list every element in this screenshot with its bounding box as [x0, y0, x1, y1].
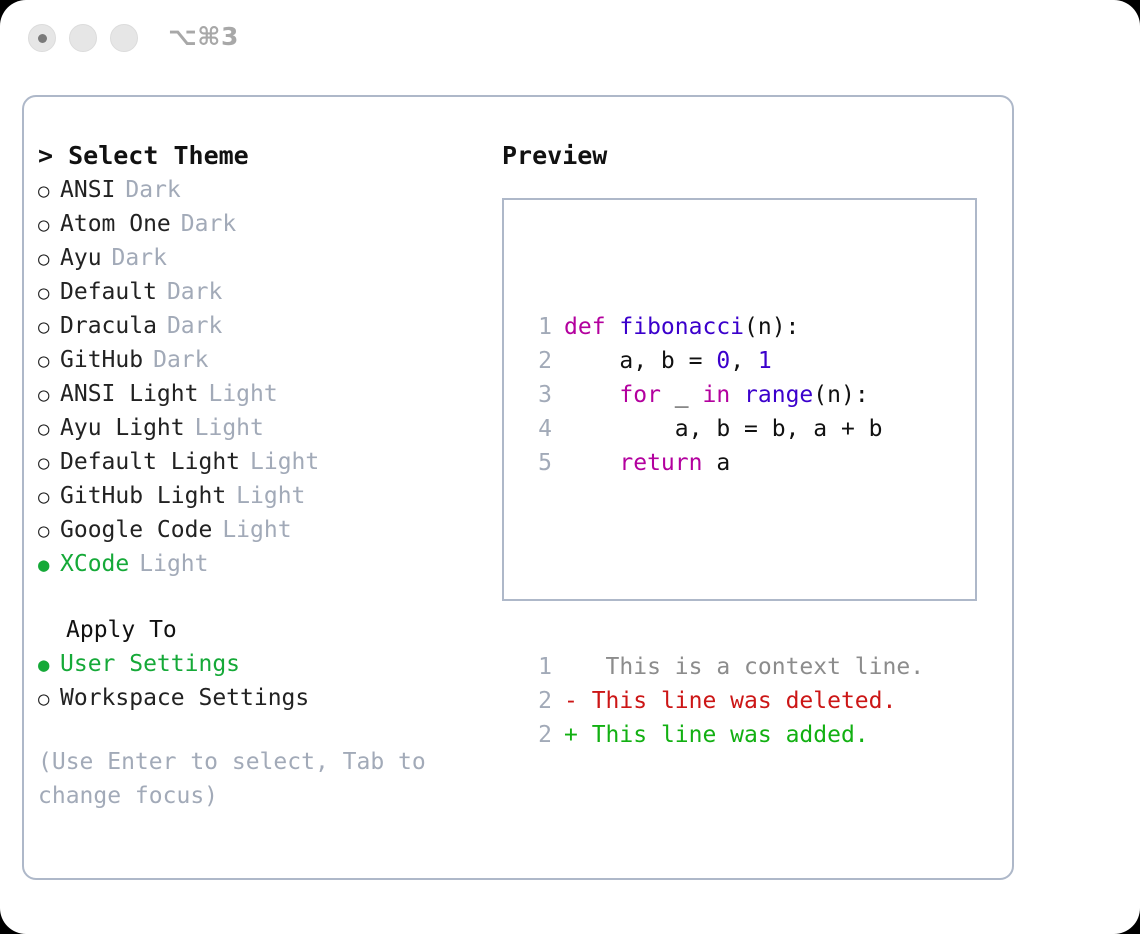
diff-line-content: This is a context line.: [552, 650, 924, 684]
theme-option-label: Dracula: [60, 309, 157, 343]
code-line-number: 5: [522, 446, 552, 480]
code-line: 1def fibonacci(n):: [522, 310, 924, 344]
radio-selected-icon: ●: [38, 648, 60, 682]
theme-option-label: Google Code: [60, 513, 212, 547]
apply-to-option-label: User Settings: [60, 647, 240, 681]
radio-unselected-icon: ○: [38, 412, 60, 446]
code-line-number: 4: [522, 412, 552, 446]
keyboard-shortcut-label: ⌥⌘3: [168, 22, 239, 51]
code-token-kw: return: [619, 450, 702, 476]
radio-unselected-icon: ○: [38, 174, 60, 208]
code-line: 4 a, b = b, a + b: [522, 412, 924, 446]
code-spacer: [522, 548, 924, 582]
apply-to-option-workspace-settings[interactable]: ○Workspace Settings: [38, 681, 478, 715]
window-minimize-button[interactable]: [69, 24, 97, 52]
diff-text: This line was added.: [578, 722, 869, 748]
theme-option-variant-tag: Dark: [181, 207, 236, 241]
window-close-dot-icon: [38, 34, 47, 43]
app-window: ⌥⌘3 > Select Theme ○ANSIDark○Atom OneDar…: [0, 0, 1140, 934]
theme-option-ansi-light[interactable]: ○ANSI LightLight: [38, 377, 478, 411]
code-token-plain: [564, 382, 619, 408]
theme-selector-column: > Select Theme ○ANSIDark○Atom OneDark○Ay…: [38, 139, 478, 813]
radio-unselected-icon: ○: [38, 682, 60, 716]
theme-option-atom-one[interactable]: ○Atom OneDark: [38, 207, 478, 241]
theme-option-label: ANSI Light: [60, 377, 198, 411]
radio-selected-icon: ●: [38, 548, 60, 582]
theme-option-default-light[interactable]: ○Default LightLight: [38, 445, 478, 479]
code-line-content: for _ in range(n):: [552, 378, 869, 412]
theme-option-variant-tag: Light: [208, 377, 277, 411]
diff-text: This line was deleted.: [578, 688, 897, 714]
code-token-kw: for: [619, 382, 661, 408]
code-token-num: 1: [758, 348, 772, 374]
theme-option-label: GitHub: [60, 343, 143, 377]
code-token-plain: (n):: [813, 382, 868, 408]
theme-option-label: XCode: [60, 547, 129, 581]
apply-to-list: ●User Settings○Workspace Settings: [38, 647, 478, 715]
code-line-content: a, b = b, a + b: [552, 412, 883, 446]
diff-marker: +: [564, 722, 578, 748]
code-line-number: 3: [522, 378, 552, 412]
code-line: 3 for _ in range(n):: [522, 378, 924, 412]
code-token-fn: fibonacci: [619, 314, 744, 340]
preview-box: 1def fibonacci(n):2 a, b = 0, 13 for _ i…: [502, 198, 977, 601]
theme-option-variant-tag: Dark: [167, 275, 222, 309]
window-maximize-button[interactable]: [110, 24, 138, 52]
theme-list: ○ANSIDark○Atom OneDark○AyuDark○DefaultDa…: [38, 173, 478, 581]
radio-unselected-icon: ○: [38, 378, 60, 412]
radio-unselected-icon: ○: [38, 480, 60, 514]
theme-option-variant-tag: Dark: [112, 241, 167, 275]
code-token-plain: [730, 382, 744, 408]
theme-option-variant-tag: Light: [236, 479, 305, 513]
theme-option-variant-tag: Light: [139, 547, 208, 581]
theme-option-variant-tag: Dark: [167, 309, 222, 343]
diff-line-ctx: 1 This is a context line.: [522, 650, 924, 684]
diff-line-del: 2- This line was deleted.: [522, 684, 924, 718]
diff-line-add: 2+ This line was added.: [522, 718, 924, 752]
radio-unselected-icon: ○: [38, 310, 60, 344]
theme-option-ayu[interactable]: ○AyuDark: [38, 241, 478, 275]
radio-unselected-icon: ○: [38, 242, 60, 276]
apply-to-option-label: Workspace Settings: [60, 681, 309, 715]
theme-option-label: GitHub Light: [60, 479, 226, 513]
theme-option-variant-tag: Dark: [153, 343, 208, 377]
window-close-button[interactable]: [28, 24, 56, 52]
diff-marker: [564, 654, 578, 680]
theme-option-variant-tag: Light: [250, 445, 319, 479]
code-token-kw: def: [564, 314, 619, 340]
code-line-number: 1: [522, 310, 552, 344]
select-theme-heading: > Select Theme: [38, 139, 478, 173]
radio-unselected-icon: ○: [38, 344, 60, 378]
theme-option-github-light[interactable]: ○GitHub LightLight: [38, 479, 478, 513]
code-token-num: 0: [716, 348, 730, 374]
code-token-plain: _: [661, 382, 703, 408]
theme-option-variant-tag: Light: [222, 513, 291, 547]
theme-option-xcode[interactable]: ●XCodeLight: [38, 547, 478, 581]
diff-marker: -: [564, 688, 578, 714]
main-panel: > Select Theme ○ANSIDark○Atom OneDark○Ay…: [22, 95, 1014, 880]
radio-unselected-icon: ○: [38, 446, 60, 480]
diff-lines: 1 This is a context line.2- This line wa…: [522, 650, 924, 752]
radio-unselected-icon: ○: [38, 208, 60, 242]
apply-to-heading: Apply To: [38, 613, 478, 647]
code-token-fn: range: [744, 382, 813, 408]
code-line: 5 return a: [522, 446, 924, 480]
theme-option-label: Atom One: [60, 207, 171, 241]
theme-option-variant-tag: Light: [195, 411, 264, 445]
code-token-plain: a, b = b, a + b: [564, 416, 883, 442]
diff-line-content: - This line was deleted.: [552, 684, 896, 718]
theme-option-label: Ayu Light: [60, 411, 185, 445]
code-token-plain: (n):: [744, 314, 799, 340]
theme-option-label: Default: [60, 275, 157, 309]
traffic-light-group: [28, 24, 138, 52]
titlebar: ⌥⌘3: [0, 0, 1140, 78]
code-line-content: def fibonacci(n):: [552, 310, 799, 344]
theme-option-ayu-light[interactable]: ○Ayu LightLight: [38, 411, 478, 445]
code-line-content: return a: [552, 446, 730, 480]
theme-option-variant-tag: Dark: [125, 173, 180, 207]
code-line-number: 2: [522, 344, 552, 378]
preview-heading: Preview: [502, 139, 1002, 173]
theme-option-label: Default Light: [60, 445, 240, 479]
code-line-content: a, b = 0, 1: [552, 344, 772, 378]
code-preview-area: 1def fibonacci(n):2 a, b = 0, 13 for _ i…: [522, 242, 924, 820]
theme-option-label: Ayu: [60, 241, 102, 275]
diff-line-number: 1: [522, 650, 552, 684]
code-token-plain: a, b =: [564, 348, 716, 374]
theme-option-dracula[interactable]: ○DraculaDark: [38, 309, 478, 343]
theme-option-default[interactable]: ○DefaultDark: [38, 275, 478, 309]
preview-column: Preview 1def fibonacci(n):2 a, b = 0, 13…: [502, 139, 1002, 601]
theme-option-google-code[interactable]: ○Google CodeLight: [38, 513, 478, 547]
diff-text: This is a context line.: [578, 654, 924, 680]
code-lines: 1def fibonacci(n):2 a, b = 0, 13 for _ i…: [522, 310, 924, 480]
code-token-kw: in: [702, 382, 730, 408]
diff-line-number: 2: [522, 718, 552, 752]
radio-unselected-icon: ○: [38, 514, 60, 548]
diff-line-number: 2: [522, 684, 552, 718]
code-token-plain: a: [702, 450, 730, 476]
code-token-plain: [564, 450, 619, 476]
theme-option-ansi[interactable]: ○ANSIDark: [38, 173, 478, 207]
theme-option-label: ANSI: [60, 173, 115, 207]
code-line: 2 a, b = 0, 1: [522, 344, 924, 378]
theme-option-github[interactable]: ○GitHubDark: [38, 343, 478, 377]
keyboard-hint-text: (Use Enter to select, Tab to change focu…: [38, 745, 438, 813]
diff-line-content: + This line was added.: [552, 718, 869, 752]
radio-unselected-icon: ○: [38, 276, 60, 310]
apply-to-option-user-settings[interactable]: ●User Settings: [38, 647, 478, 681]
code-token-plain: ,: [730, 348, 758, 374]
